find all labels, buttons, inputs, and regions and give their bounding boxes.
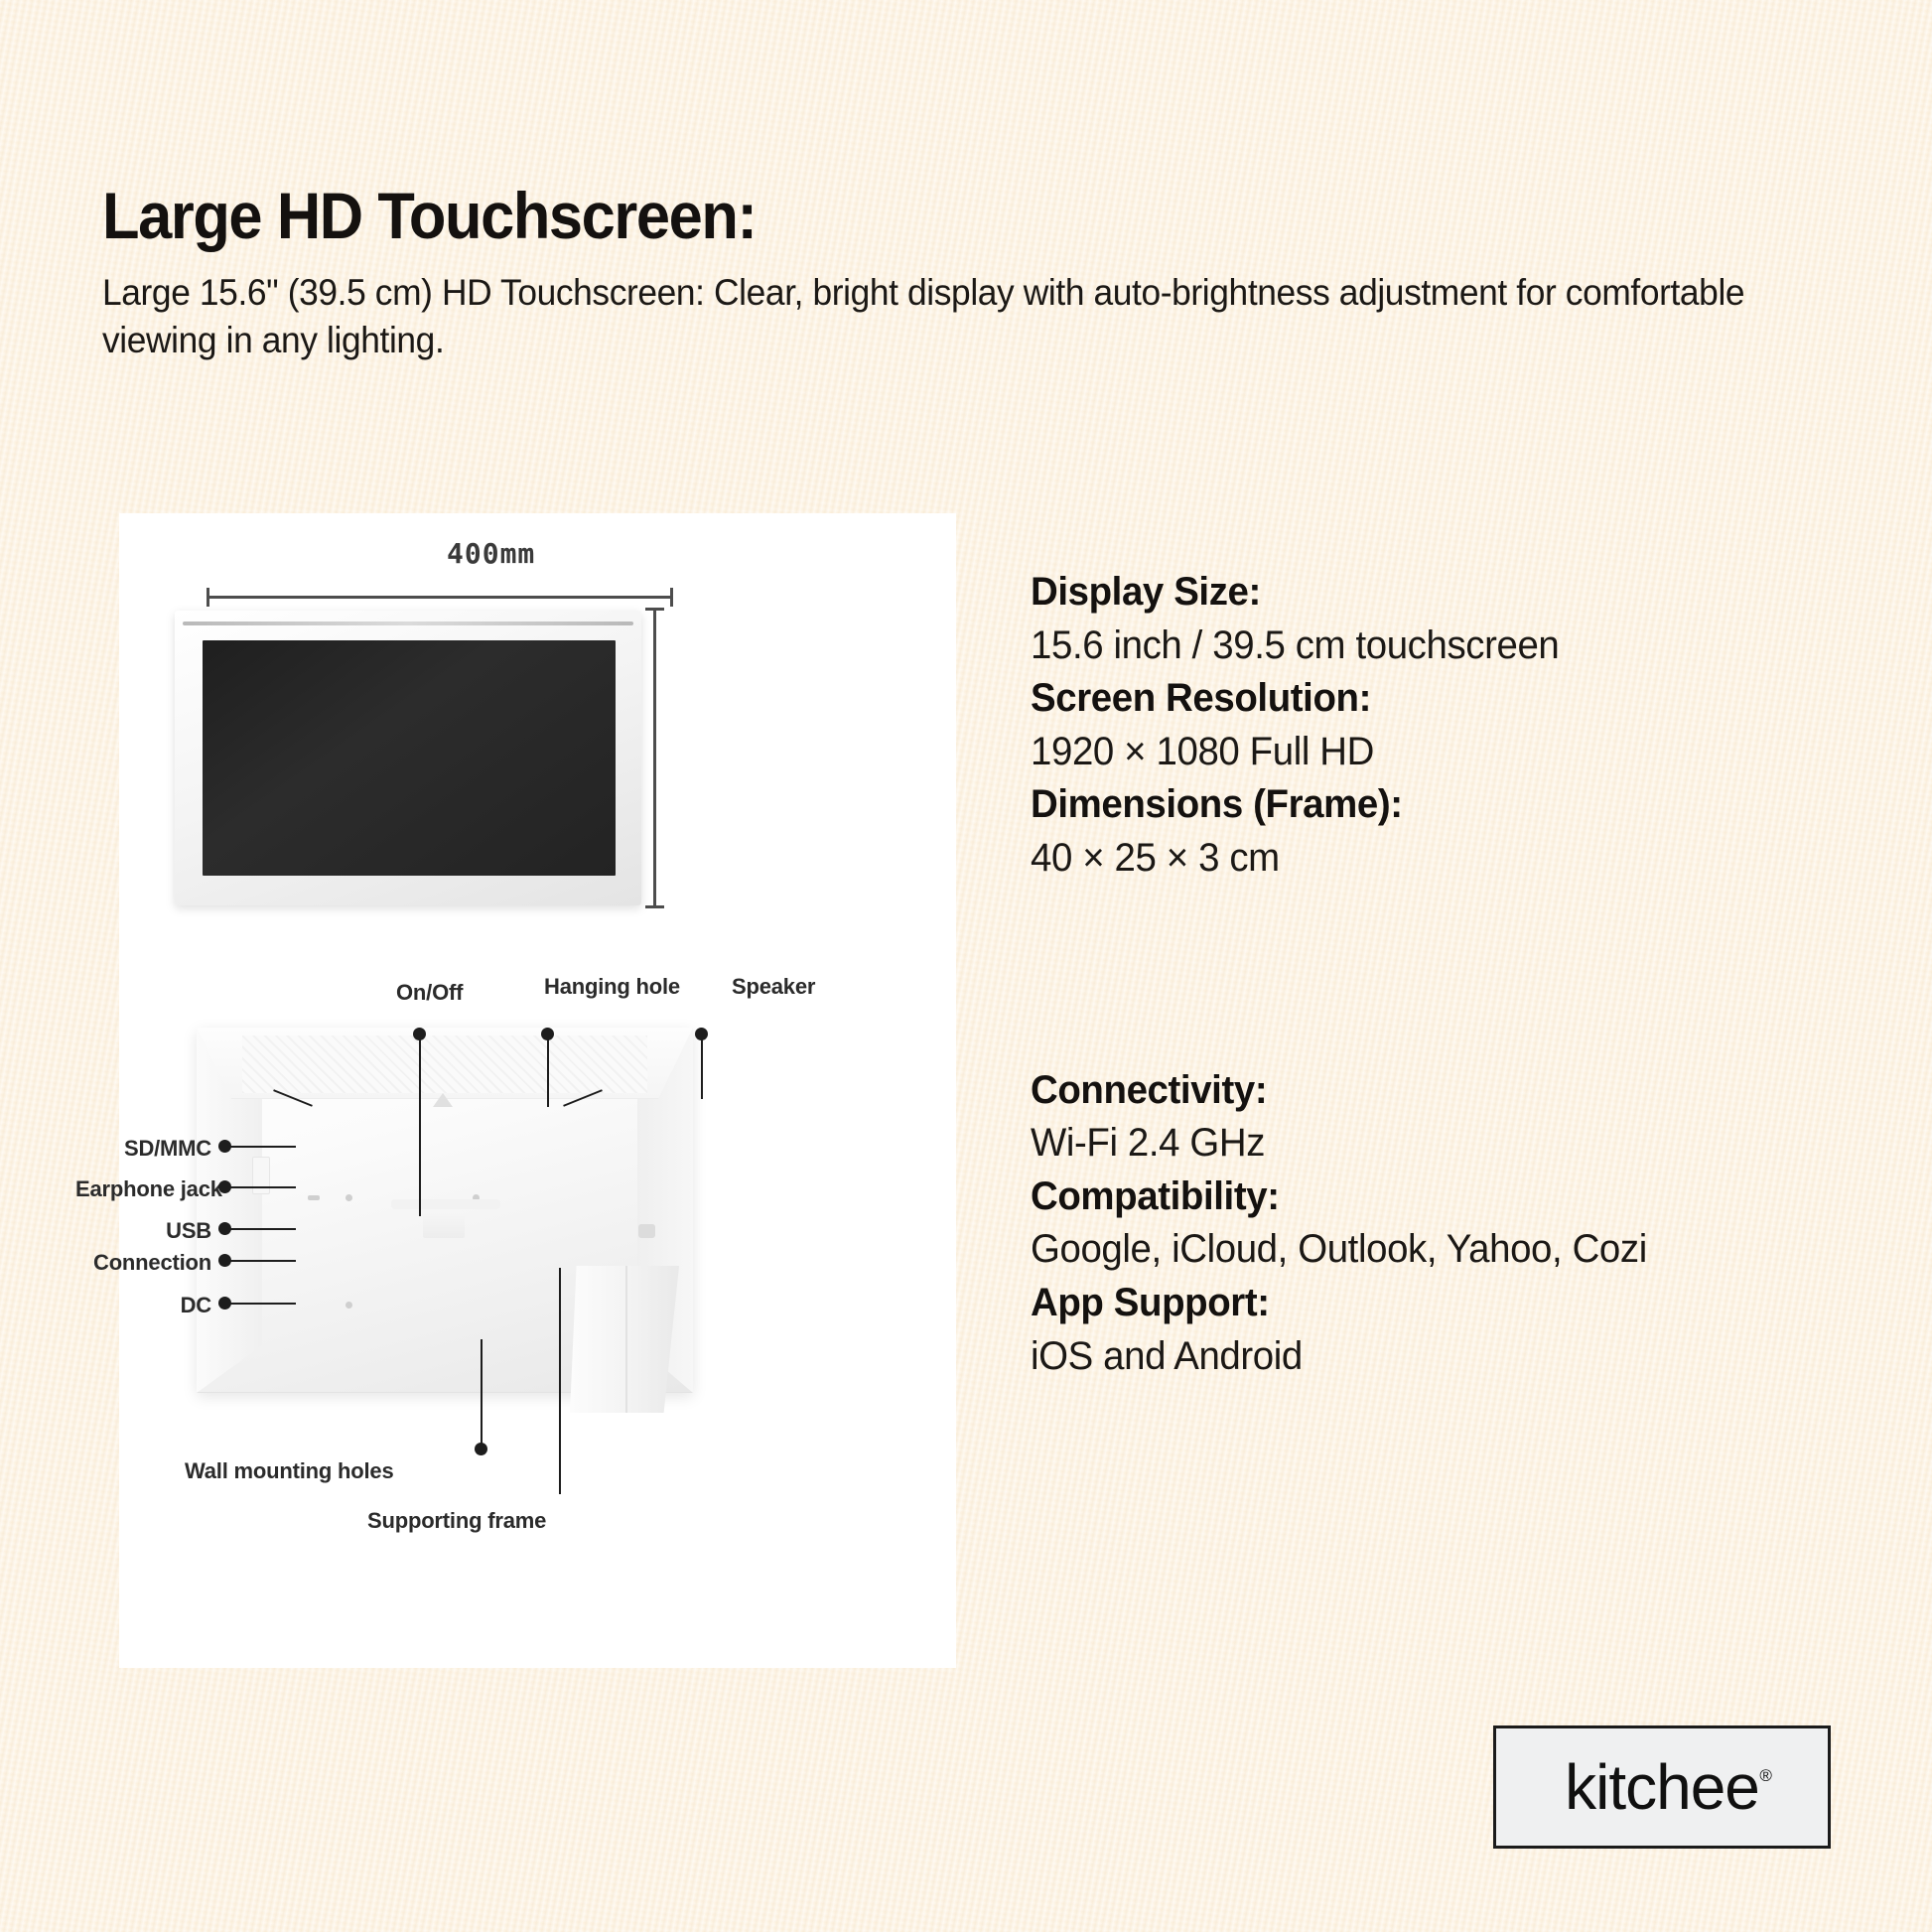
- callout-label-connection: Connection: [91, 1250, 211, 1276]
- callout-label-dc: DC: [119, 1293, 211, 1318]
- callout-line-speaker: [701, 1034, 703, 1099]
- device-rear-body: [197, 1028, 693, 1415]
- callout-label-wall-mounting-holes: Wall mounting holes: [185, 1458, 394, 1484]
- spec-value-compatibility: Google, iCloud, Outlook, Yahoo, Cozi: [1031, 1223, 1869, 1277]
- callout-line-connection: [228, 1260, 296, 1262]
- spec-label-dimensions-frame: Dimensions (Frame):: [1031, 778, 1869, 832]
- callout-line-supporting-frame: [559, 1268, 561, 1494]
- callout-label-earphone-jack: Earphone jack: [75, 1176, 211, 1202]
- callout-label-on-off: On/Off: [396, 980, 463, 1006]
- rear-hatch-texture: [242, 1035, 647, 1093]
- spec-value-screen-resolution: 1920 × 1080 Full HD: [1031, 726, 1869, 779]
- registered-trademark-icon: ®: [1759, 1766, 1772, 1786]
- product-rear-view: On/Off Hanging hole Speaker SD/MMC Earph…: [119, 940, 956, 1665]
- rear-center-bump: [423, 1212, 465, 1238]
- power-button-shape: [252, 1157, 270, 1194]
- spec-label-display-size: Display Size:: [1031, 566, 1869, 620]
- spec-value-app-support: iOS and Android: [1031, 1330, 1869, 1384]
- callout-label-supporting-frame: Supporting frame: [367, 1508, 546, 1534]
- callout-line-earphone-jack: [228, 1186, 296, 1188]
- header-section: Large HD Touchscreen: Large 15.6" (39.5 …: [102, 181, 1850, 363]
- spec-group-display: Display Size: 15.6 inch / 39.5 cm touchs…: [1031, 566, 1904, 886]
- callout-label-hanging-hole: Hanging hole: [544, 974, 680, 1000]
- rear-screw: [638, 1224, 655, 1238]
- width-dimension-line: [207, 596, 673, 599]
- callout-label-speaker: Speaker: [732, 974, 815, 1000]
- callout-line-wall-mounting-holes: [481, 1339, 483, 1449]
- callout-line-dc: [228, 1303, 296, 1305]
- device-frame-front: [175, 611, 641, 905]
- specifications-column: Display Size: 15.6 inch / 39.5 cm touchs…: [1031, 566, 1904, 1383]
- spec-label-screen-resolution: Screen Resolution:: [1031, 672, 1869, 726]
- spec-value-dimensions-frame: 40 × 25 × 3 cm: [1031, 832, 1869, 886]
- vesa-hole: [345, 1194, 352, 1201]
- product-image-panel: 400mm 250mm: [119, 513, 956, 1668]
- product-description: Large 15.6" (39.5 cm) HD Touchscreen: Cl…: [102, 269, 1752, 363]
- callout-label-sd-mmc: SD/MMC: [119, 1136, 211, 1162]
- spec-value-connectivity: Wi-Fi 2.4 GHz: [1031, 1117, 1869, 1171]
- specs-spacer: [1031, 886, 1904, 1064]
- spec-value-display-size: 15.6 inch / 39.5 cm touchscreen: [1031, 620, 1869, 673]
- device-screen: [203, 640, 616, 876]
- spec-label-app-support: App Support:: [1031, 1277, 1869, 1330]
- brand-logo: kitchee ®: [1493, 1725, 1831, 1849]
- width-dimension-label: 400mm: [447, 537, 535, 570]
- supporting-frame-edge: [625, 1266, 627, 1413]
- spec-group-connectivity: Connectivity: Wi-Fi 2.4 GHz Compatibilit…: [1031, 1064, 1904, 1384]
- callout-label-usb: USB: [119, 1218, 211, 1244]
- brand-logo-text: kitchee: [1565, 1755, 1759, 1819]
- callout-line-sd-mmc: [228, 1146, 296, 1148]
- spec-label-compatibility: Compatibility:: [1031, 1171, 1869, 1224]
- callout-line-on-off: [419, 1034, 421, 1216]
- callout-line-hanging-hole: [547, 1034, 549, 1107]
- callout-line-usb: [228, 1228, 296, 1230]
- vesa-hole: [345, 1302, 352, 1309]
- spec-label-connectivity: Connectivity:: [1031, 1064, 1869, 1118]
- height-dimension-line: [653, 608, 656, 908]
- vesa-slot: [308, 1195, 320, 1200]
- rear-center-notch: [391, 1199, 500, 1209]
- product-front-view: 400mm 250mm: [119, 513, 956, 970]
- supporting-frame-stand: [570, 1266, 679, 1413]
- page-title: Large HD Touchscreen:: [102, 181, 1727, 251]
- infographic-root: Large HD Touchscreen: Large 15.6" (39.5 …: [0, 0, 1932, 1932]
